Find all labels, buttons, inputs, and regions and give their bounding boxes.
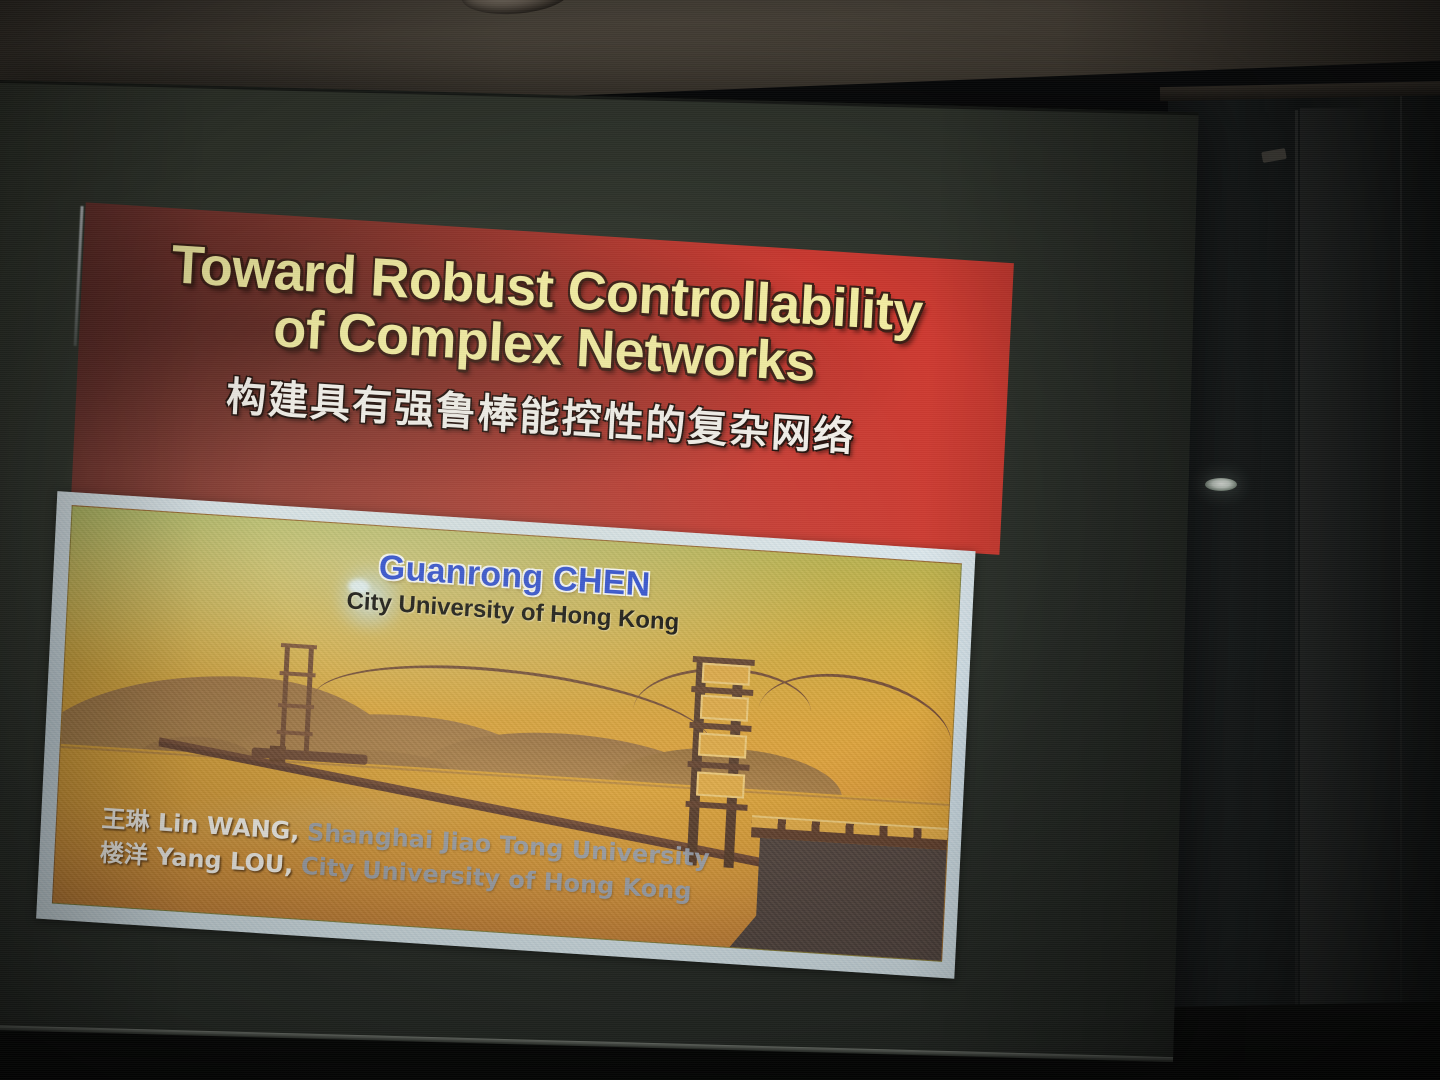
speaker-affiliation: City University of Hong Kong: [68, 569, 958, 655]
slide-title: Toward Robust Controllability of Complex…: [79, 202, 1014, 405]
speaker-block: Guanrong CHEN City University of Hong Ko…: [68, 528, 960, 655]
projection-screen: Toward Robust Controllability of Complex…: [0, 80, 1199, 1062]
projector-bloom: [29, 181, 1035, 1006]
slide-title-line1: Toward Robust Controllability: [170, 234, 924, 343]
shoreline: [61, 746, 949, 806]
water-reflection: [109, 770, 522, 864]
slide-subtitle-chinese: 构建具有强鲁棒能控性的复杂网络: [75, 355, 1006, 474]
slide-header-band: Toward Robust Controllability of Complex…: [71, 202, 1014, 554]
sea-water: [53, 744, 949, 961]
hill-silhouette: [416, 724, 721, 795]
coauthor-list: 王琳 Lin WANG, Shanghai Jiao Tong Universi…: [99, 802, 710, 910]
coauthor-name: 王琳 Lin WANG,: [101, 805, 300, 846]
bridge-deck-shadow: [158, 741, 894, 893]
bridge-tower-crossbeam: [277, 730, 313, 736]
coauthor-row: 王琳 Lin WANG, Shanghai Jiao Tong Universi…: [101, 802, 711, 876]
suspension-cable: [633, 667, 811, 757]
bridge-deck-railing: [751, 815, 962, 851]
hill-silhouette: [611, 740, 844, 799]
photo-of-lecture-room: Toward Robust Controllability of Complex…: [0, 0, 1440, 1080]
hill-silhouette: [52, 662, 420, 791]
bridge-tower-crossbeam: [693, 656, 755, 666]
bridge-deck: [159, 737, 894, 888]
islet: [140, 733, 257, 762]
sky-haze: [61, 506, 961, 794]
bridge-abutment: [753, 838, 961, 962]
wall-seam: [1400, 95, 1402, 1080]
slide-edge-highlight: [74, 206, 84, 346]
lens-flare: [325, 563, 414, 635]
bridge-tower-opening: [700, 694, 749, 721]
wall-seam: [1295, 110, 1298, 1080]
bridge-tower-crossbeam: [281, 643, 317, 649]
lens-flare-core: [347, 578, 370, 594]
suspension-cable: [749, 658, 961, 799]
slide-title-line2: of Complex Networks: [79, 287, 1010, 405]
bridge-tower-near-leg: [724, 661, 744, 868]
coauthor-name: 楼洋 Yang LOU,: [99, 839, 294, 880]
islet: [309, 746, 452, 773]
bridge-tower-crossbeam: [692, 686, 754, 696]
bridge-tower-crossbeam: [280, 671, 316, 677]
bridge-tower-crossbeam: [688, 761, 750, 771]
bridge-tower-opening: [702, 663, 751, 686]
suspension-cable: [308, 647, 717, 797]
bridge-tower-far-leg: [280, 643, 291, 754]
coauthor-row: 楼洋 Yang LOU, City University of Hong Kon…: [99, 836, 709, 910]
coauthor-affiliation: City University of Hong Kong: [300, 852, 692, 906]
bridge-tower-crossbeam: [278, 703, 314, 709]
speaker-name: Guanrong CHEN: [70, 528, 960, 625]
wall-downlight-icon: [1205, 478, 1237, 491]
bridge-tower-base: [252, 748, 368, 766]
bridge-abutment-slope: [723, 859, 800, 959]
bridge-tower-crossbeam: [690, 722, 752, 732]
bridge-tower-near-leg: [687, 658, 707, 865]
bridge-tower-opening: [698, 732, 747, 759]
bridge-tower-opening: [696, 772, 745, 799]
coauthor-affiliation: Shanghai Jiao Tong University: [306, 818, 710, 872]
bridge-tower-crossbeam: [686, 801, 748, 811]
photo-frame-border: Guanrong CHEN City University of Hong Ko…: [36, 491, 975, 979]
hill-silhouette: [220, 703, 561, 793]
bridge-tower-far-leg: [304, 645, 315, 756]
bridge-pier: [269, 746, 286, 763]
bridge-photo: Guanrong CHEN City University of Hong Ko…: [52, 505, 962, 962]
bridge-deck-near: [751, 827, 962, 851]
wall-panel: [1300, 108, 1400, 1080]
presentation-slide: Toward Robust Controllability of Complex…: [50, 202, 1014, 984]
